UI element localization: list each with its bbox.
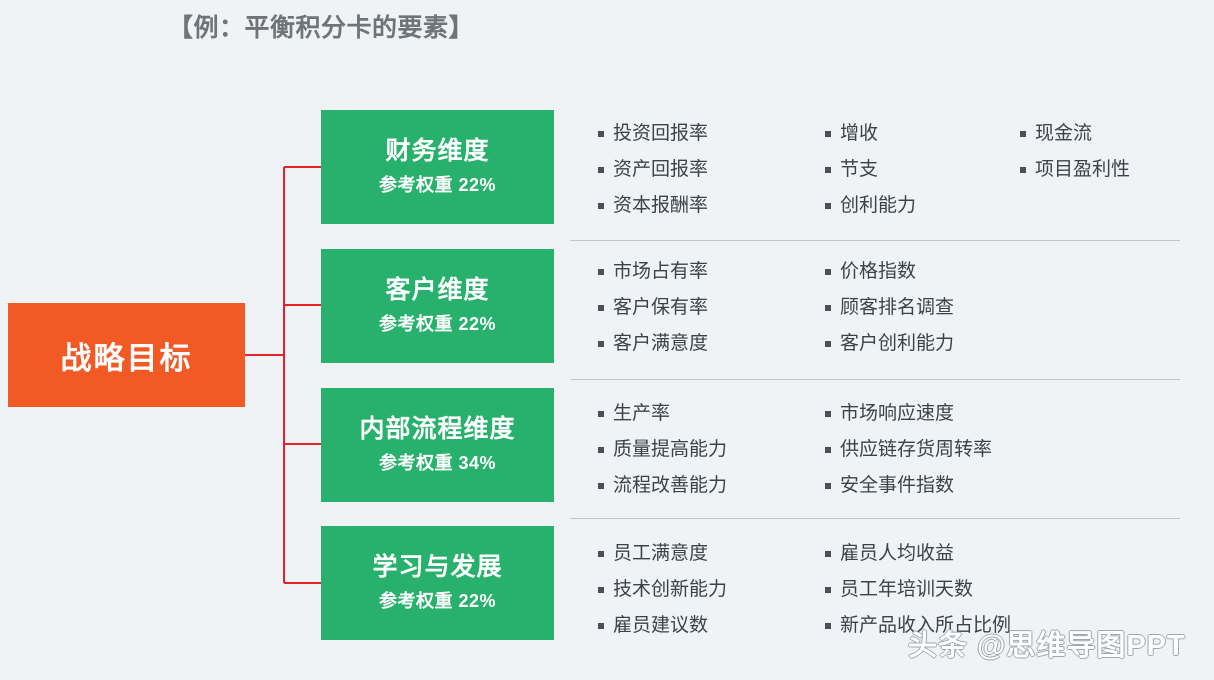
bullet-square-icon bbox=[598, 411, 604, 417]
bullet-square-icon bbox=[825, 131, 831, 137]
bullet-square-icon bbox=[598, 131, 604, 137]
branch-weight-2: 参考权重 22% bbox=[379, 310, 496, 336]
bullet-square-icon bbox=[825, 411, 831, 417]
detail-item-label: 创利能力 bbox=[840, 188, 916, 224]
detail-item-label: 员工满意度 bbox=[613, 536, 708, 572]
detail-item[interactable]: 节支 bbox=[825, 152, 916, 188]
bullet-square-icon bbox=[825, 269, 831, 275]
bullet-square-icon bbox=[825, 167, 831, 173]
bullet-square-icon bbox=[1020, 167, 1026, 173]
detail-item[interactable]: 投资回报率 bbox=[598, 116, 708, 152]
detail-item-label: 项目盈利性 bbox=[1035, 152, 1130, 188]
bullet-square-icon bbox=[598, 203, 604, 209]
bullet-square-icon bbox=[825, 483, 831, 489]
bullet-square-icon bbox=[825, 305, 831, 311]
detail-item-label: 价格指数 bbox=[840, 254, 916, 290]
detail-item-label: 供应链存货周转率 bbox=[840, 432, 992, 468]
bullet-square-icon bbox=[598, 167, 604, 173]
bullet-square-icon bbox=[598, 587, 604, 593]
branch-weight-3: 参考权重 34% bbox=[379, 449, 496, 475]
detail-item-label: 市场占有率 bbox=[613, 254, 708, 290]
branch-title-3: 内部流程维度 bbox=[359, 415, 515, 444]
bullet-square-icon bbox=[825, 203, 831, 209]
detail-item[interactable]: 员工满意度 bbox=[598, 536, 727, 572]
detail-column-2-2: 价格指数顾客排名调查客户创利能力 bbox=[825, 254, 954, 362]
bullet-square-icon bbox=[598, 305, 604, 311]
detail-item[interactable]: 雇员建议数 bbox=[598, 608, 727, 644]
bullet-square-icon bbox=[825, 623, 831, 629]
branch-box-4[interactable]: 学习与发展 参考权重 22% bbox=[321, 526, 554, 640]
detail-item-label: 生产率 bbox=[613, 396, 670, 432]
branch-box-1[interactable]: 财务维度 参考权重 22% bbox=[321, 110, 554, 224]
bullet-square-icon bbox=[1020, 131, 1026, 137]
bullet-square-icon bbox=[598, 483, 604, 489]
bullet-square-icon bbox=[825, 587, 831, 593]
detail-item-label: 客户保有率 bbox=[613, 290, 708, 326]
detail-item-label: 安全事件指数 bbox=[840, 468, 954, 504]
bullet-square-icon bbox=[598, 447, 604, 453]
detail-item[interactable]: 顾客排名调查 bbox=[825, 290, 954, 326]
detail-column-1-3: 现金流项目盈利性 bbox=[1020, 116, 1130, 188]
branch-weight-4: 参考权重 22% bbox=[379, 587, 496, 613]
branch-title-1: 财务维度 bbox=[385, 137, 489, 166]
detail-item[interactable]: 市场响应速度 bbox=[825, 396, 992, 432]
detail-item-label: 市场响应速度 bbox=[840, 396, 954, 432]
detail-item-label: 技术创新能力 bbox=[613, 572, 727, 608]
detail-item[interactable]: 客户满意度 bbox=[598, 326, 708, 362]
detail-item-label: 顾客排名调查 bbox=[840, 290, 954, 326]
detail-item[interactable]: 安全事件指数 bbox=[825, 468, 992, 504]
detail-item[interactable]: 质量提高能力 bbox=[598, 432, 727, 468]
bullet-square-icon bbox=[598, 623, 604, 629]
detail-item-label: 雇员建议数 bbox=[613, 608, 708, 644]
detail-column-1-1: 投资回报率资产回报率资本报酬率 bbox=[598, 116, 708, 224]
detail-item[interactable]: 技术创新能力 bbox=[598, 572, 727, 608]
detail-item[interactable]: 客户创利能力 bbox=[825, 326, 954, 362]
detail-item[interactable]: 价格指数 bbox=[825, 254, 954, 290]
bullet-square-icon bbox=[825, 551, 831, 557]
bullet-square-icon bbox=[825, 447, 831, 453]
root-node-strategic-goal[interactable]: 战略目标 bbox=[8, 303, 245, 407]
detail-item-label: 现金流 bbox=[1035, 116, 1092, 152]
detail-item-label: 节支 bbox=[840, 152, 878, 188]
detail-item-label: 客户满意度 bbox=[613, 326, 708, 362]
branch-title-4: 学习与发展 bbox=[372, 553, 502, 582]
detail-item-label: 质量提高能力 bbox=[613, 432, 727, 468]
bullet-square-icon bbox=[598, 341, 604, 347]
detail-item[interactable]: 资本报酬率 bbox=[598, 188, 708, 224]
detail-item[interactable]: 创利能力 bbox=[825, 188, 916, 224]
detail-item-label: 客户创利能力 bbox=[840, 326, 954, 362]
detail-item[interactable]: 项目盈利性 bbox=[1020, 152, 1130, 188]
detail-item[interactable]: 流程改善能力 bbox=[598, 468, 727, 504]
detail-item[interactable]: 员工年培训天数 bbox=[825, 572, 1011, 608]
detail-column-1-2: 增收节支创利能力 bbox=[825, 116, 916, 224]
detail-item[interactable]: 客户保有率 bbox=[598, 290, 708, 326]
branch-box-2[interactable]: 客户维度 参考权重 22% bbox=[321, 249, 554, 363]
detail-item[interactable]: 生产率 bbox=[598, 396, 727, 432]
row-divider-1 bbox=[570, 240, 1180, 241]
bullet-square-icon bbox=[825, 341, 831, 347]
detail-item-label: 员工年培训天数 bbox=[840, 572, 973, 608]
detail-item[interactable]: 现金流 bbox=[1020, 116, 1130, 152]
detail-item[interactable]: 增收 bbox=[825, 116, 916, 152]
detail-item-label: 资产回报率 bbox=[613, 152, 708, 188]
root-node-label: 战略目标 bbox=[61, 333, 193, 378]
branch-box-3[interactable]: 内部流程维度 参考权重 34% bbox=[321, 388, 554, 502]
row-divider-2 bbox=[570, 379, 1180, 380]
detail-column-3-1: 生产率质量提高能力流程改善能力 bbox=[598, 396, 727, 504]
branch-weight-1: 参考权重 22% bbox=[379, 171, 496, 197]
detail-column-3-2: 市场响应速度供应链存货周转率安全事件指数 bbox=[825, 396, 992, 504]
detail-item-label: 资本报酬率 bbox=[613, 188, 708, 224]
detail-column-2-1: 市场占有率客户保有率客户满意度 bbox=[598, 254, 708, 362]
bullet-square-icon bbox=[598, 551, 604, 557]
page-title: 【例：平衡积分卡的要素】 bbox=[168, 8, 474, 44]
branch-title-2: 客户维度 bbox=[385, 276, 489, 305]
detail-item[interactable]: 雇员人均收益 bbox=[825, 536, 1011, 572]
detail-item[interactable]: 市场占有率 bbox=[598, 254, 708, 290]
detail-item-label: 投资回报率 bbox=[613, 116, 708, 152]
slide-canvas: 【例：平衡积分卡的要素】 战略目标 财务维度 参考权重 22% 客户维度 参考权… bbox=[0, 0, 1214, 680]
detail-item[interactable]: 资产回报率 bbox=[598, 152, 708, 188]
detail-item-label: 增收 bbox=[840, 116, 878, 152]
detail-item[interactable]: 供应链存货周转率 bbox=[825, 432, 992, 468]
detail-item-label: 流程改善能力 bbox=[613, 468, 727, 504]
detail-item-label: 雇员人均收益 bbox=[840, 536, 954, 572]
watermark: 头条 @思维导图PPT bbox=[908, 622, 1186, 664]
bullet-square-icon bbox=[598, 269, 604, 275]
row-divider-3 bbox=[570, 518, 1180, 519]
detail-column-4-1: 员工满意度技术创新能力雇员建议数 bbox=[598, 536, 727, 644]
